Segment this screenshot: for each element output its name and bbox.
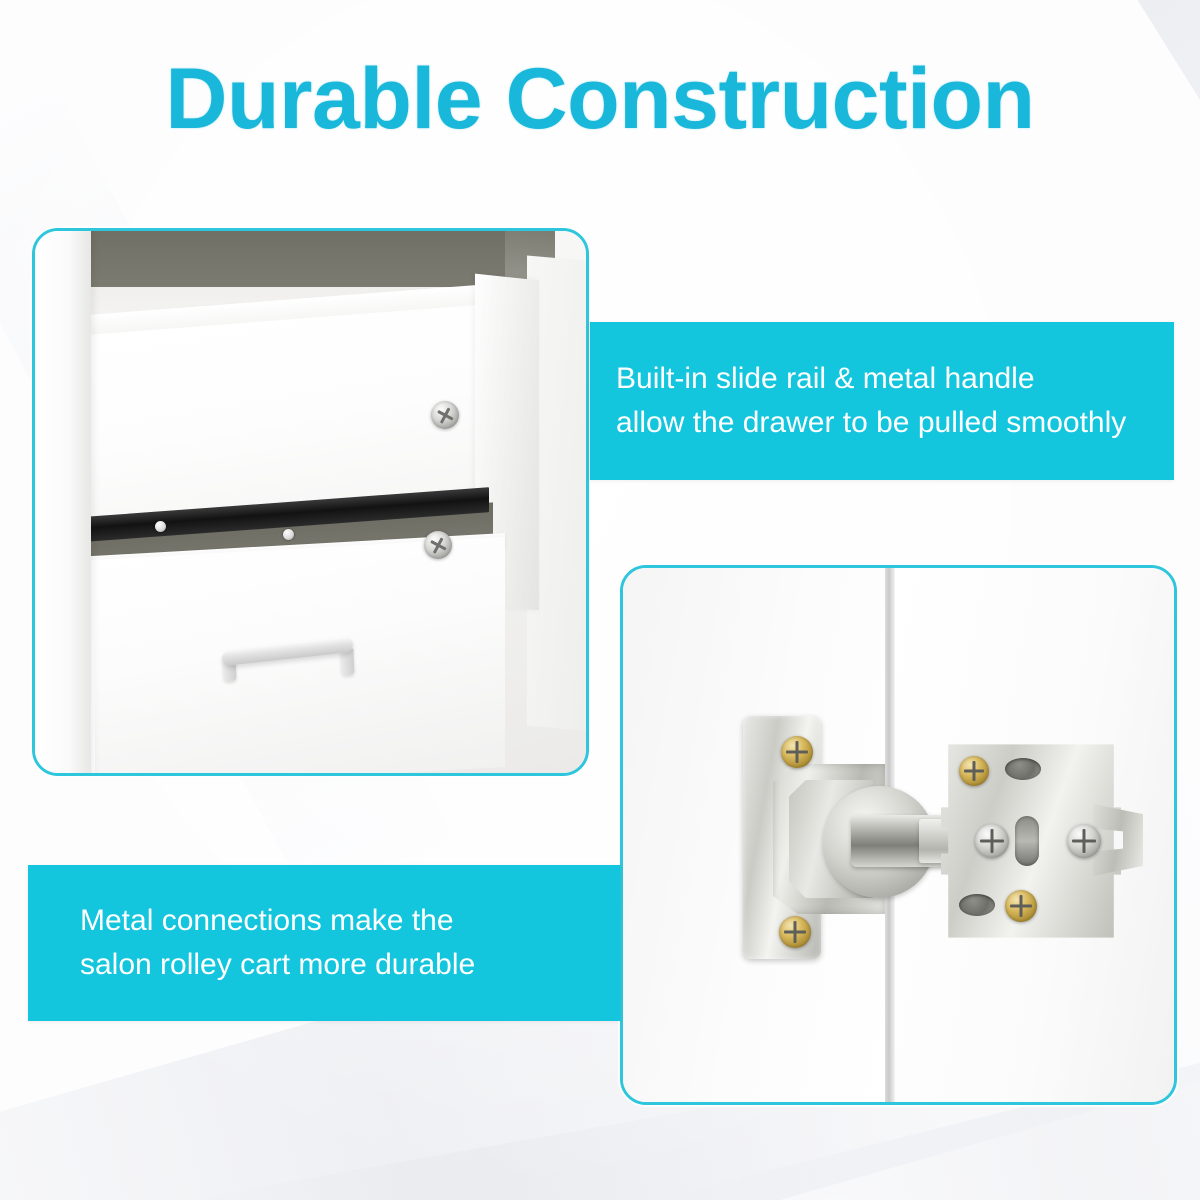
infographic-canvas: Durable Construction [0,0,1200,1200]
cabinet-left-post [35,231,91,773]
callout-line-1: Built-in slide rail & metal handle [616,357,1174,401]
screw-icon [424,531,452,559]
rail-roller-icon [155,521,166,532]
callout-line-1: Metal connections make the [80,899,620,943]
callout-slide-rail: Built-in slide rail & metal handle allow… [590,322,1174,480]
drawer-photo [35,231,586,773]
callout-line-2: allow the drawer to be pulled smoothly [616,401,1174,445]
screw-icon [431,401,459,429]
callout-metal-connections: Metal connections make the salon rolley … [28,865,620,1021]
screw-icon [959,756,989,786]
screw-icon [975,824,1009,858]
hinge-photo-panel [620,565,1177,1105]
hinge-adjust-slot-icon [1015,816,1039,866]
drawer-photo-panel [32,228,589,776]
screw-icon [1005,890,1037,922]
screw-icon [1067,824,1101,858]
hinge-hole-icon [1005,758,1041,780]
screw-icon [781,736,813,768]
page-title: Durable Construction [0,56,1200,142]
hinge-photo [623,568,1174,1102]
screw-icon [779,916,811,948]
callout-line-2: salon rolley cart more durable [80,943,620,987]
rail-roller-icon [283,529,294,540]
hinge-hole-icon [959,894,995,916]
